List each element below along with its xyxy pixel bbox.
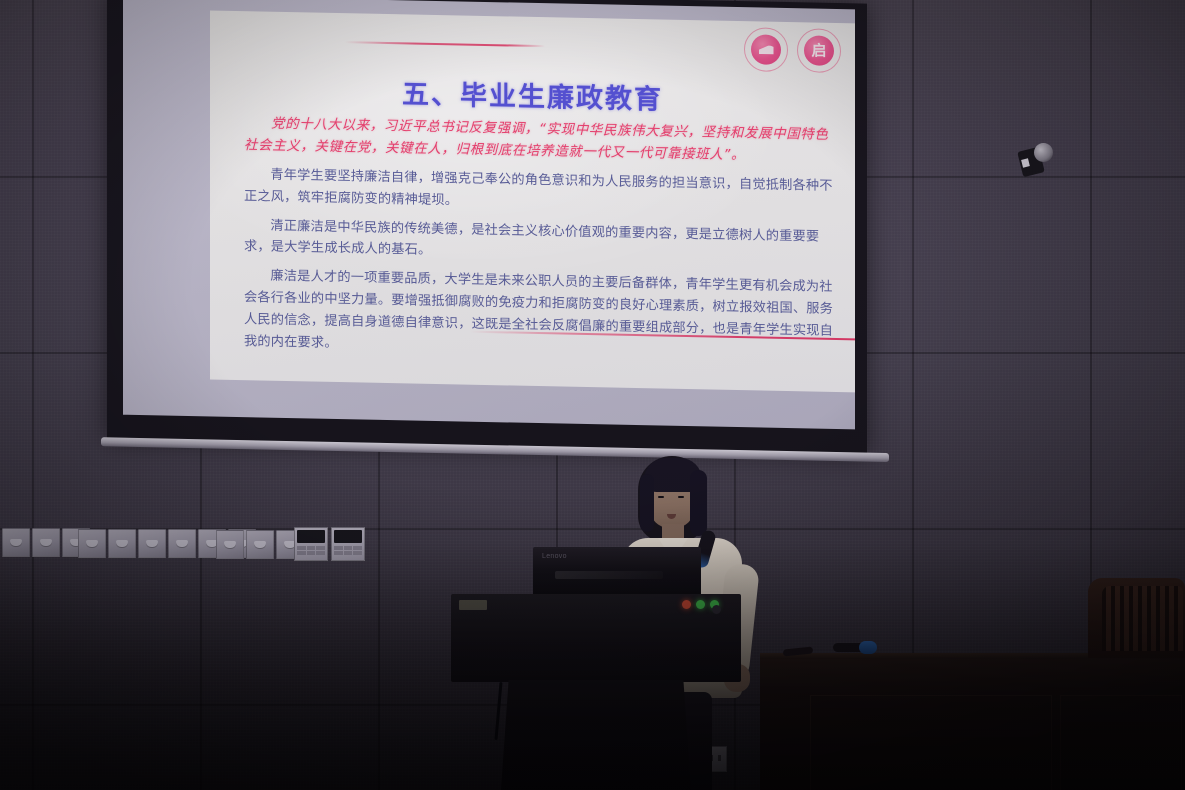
slide-paragraph-2: 清正廉洁是中华民族的传统美德，是社会主义核心价值观的重要内容，更是立德树人的重要… xyxy=(244,215,839,271)
institution-emblem-book-icon xyxy=(744,27,788,72)
presentation-slide: 启 五、毕业生廉政教育 党的十八大以来，习近平总书记反复强调，“实现中华民族伟大… xyxy=(210,10,855,392)
podium-brand-plate xyxy=(712,605,721,614)
camera-lens xyxy=(1034,143,1053,162)
slide-title: 五、毕业生廉政教育 xyxy=(210,68,855,120)
projection-surface: 启 五、毕业生廉政教育 党的十八大以来，习近平总书记反复强调，“实现中华民族伟大… xyxy=(123,0,855,429)
institution-emblem-seal-icon: 启 xyxy=(797,28,841,73)
wall-panel-line xyxy=(32,0,34,790)
light-switch[interactable] xyxy=(246,530,274,559)
light-switch[interactable] xyxy=(78,529,106,558)
light-switch[interactable] xyxy=(138,529,166,558)
ac-control-panels[interactable] xyxy=(294,527,365,561)
light-switch[interactable] xyxy=(32,528,60,557)
ac-control-panel[interactable] xyxy=(331,527,365,561)
led-red xyxy=(682,600,691,609)
front-desk xyxy=(760,653,1185,790)
podium-cable xyxy=(494,682,502,740)
slide-rule-top xyxy=(345,41,545,47)
ac-panel-display xyxy=(334,530,362,543)
slide-logos: 启 xyxy=(744,27,841,73)
light-switch[interactable] xyxy=(2,528,30,557)
seal-glyph: 启 xyxy=(804,35,834,66)
lectern-podium xyxy=(451,594,741,790)
light-switch[interactable] xyxy=(216,530,244,559)
lecture-hall-photo: 启 五、毕业生廉政教育 党的十八大以来，习近平总书记反复强调，“实现中华民族伟大… xyxy=(0,0,1185,790)
monitor-brand-label: Lenovo xyxy=(542,553,567,560)
slide-paragraph-quote: 党的十八大以来，习近平总书记反复强调，“实现中华民族伟大复兴，坚持和发展中国特色… xyxy=(244,113,839,169)
podium-column xyxy=(501,680,691,790)
ac-control-panel[interactable] xyxy=(294,527,328,561)
ac-panel-display xyxy=(297,530,325,543)
podium-nameplate xyxy=(459,600,487,610)
podium-top xyxy=(451,594,741,682)
light-switch-group-1[interactable] xyxy=(2,528,90,557)
projection-screen: 启 五、毕业生廉政教育 党的十八大以来，习近平总书记反复强调，“实现中华民族伟大… xyxy=(107,0,867,456)
wall-camera-icon xyxy=(1020,143,1050,177)
podium-monitor: Lenovo xyxy=(533,547,701,597)
light-switch[interactable] xyxy=(168,529,196,558)
led-green xyxy=(696,600,705,609)
slide-paragraph-1: 青年学生要坚持廉洁自律，增强克己奉公的角色意识和为人民服务的担当意识，自觉抵制各… xyxy=(244,164,839,220)
slide-paragraph-3: 廉洁是人才的一项重要品质，大学生是未来公职人员的主要后备群体，青年学生更有机会成… xyxy=(244,265,839,365)
light-switch[interactable] xyxy=(108,529,136,558)
wooden-chair xyxy=(1088,578,1185,663)
desk-microphone-icon xyxy=(833,641,877,653)
light-switch-group-3[interactable] xyxy=(216,530,304,559)
podium-status-leds xyxy=(682,600,719,609)
